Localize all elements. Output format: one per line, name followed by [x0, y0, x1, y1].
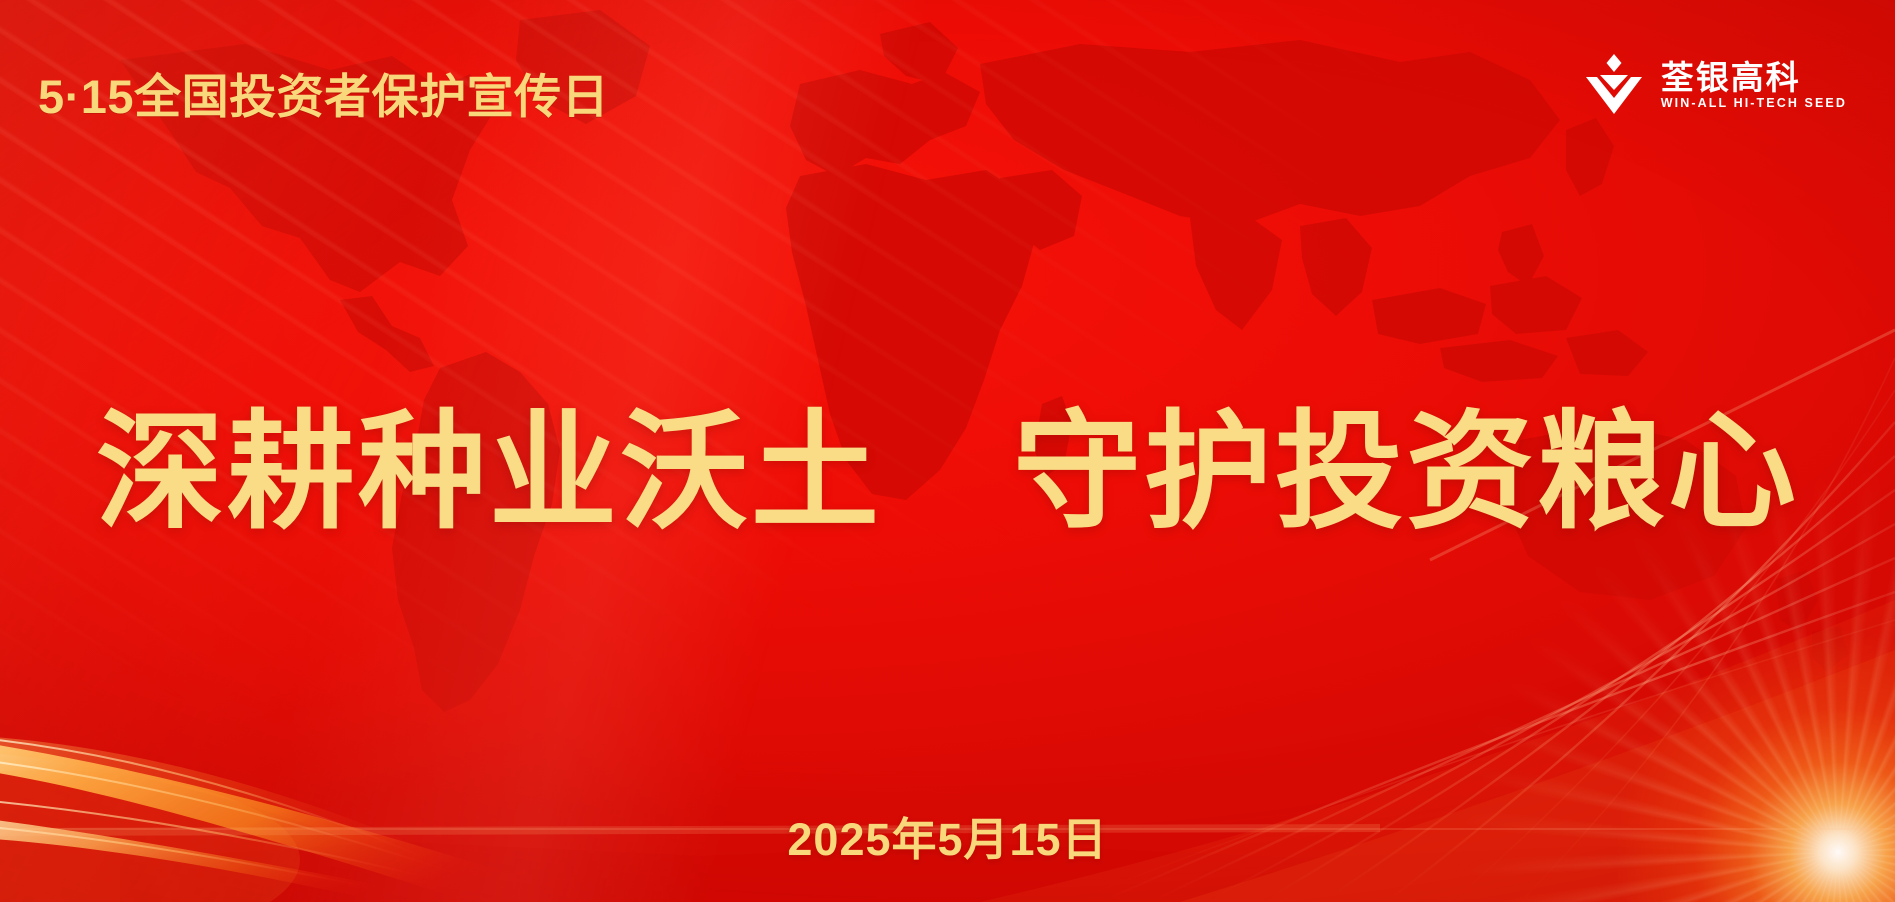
banner-content: 5·15全国投资者保护宣传日 荃银高科 WIN-ALL HI-TECH SEED… — [0, 0, 1895, 902]
main-headline: 深耕种业沃土 守护投资粮心 — [0, 404, 1895, 542]
campaign-eyebrow-title: 5·15全国投资者保护宣传日 — [38, 58, 609, 127]
seedling-chevron-icon — [1583, 52, 1645, 118]
investor-protection-banner: 5·15全国投资者保护宣传日 荃银高科 WIN-ALL HI-TECH SEED… — [0, 0, 1895, 902]
logo-text-block: 荃银高科 WIN-ALL HI-TECH SEED — [1661, 61, 1847, 110]
event-date: 2025年5月15日 — [0, 803, 1895, 868]
company-logo: 荃银高科 WIN-ALL HI-TECH SEED — [1583, 52, 1847, 118]
logo-company-name-en: WIN-ALL HI-TECH SEED — [1661, 97, 1847, 110]
logo-company-name-cn: 荃银高科 — [1661, 61, 1847, 94]
